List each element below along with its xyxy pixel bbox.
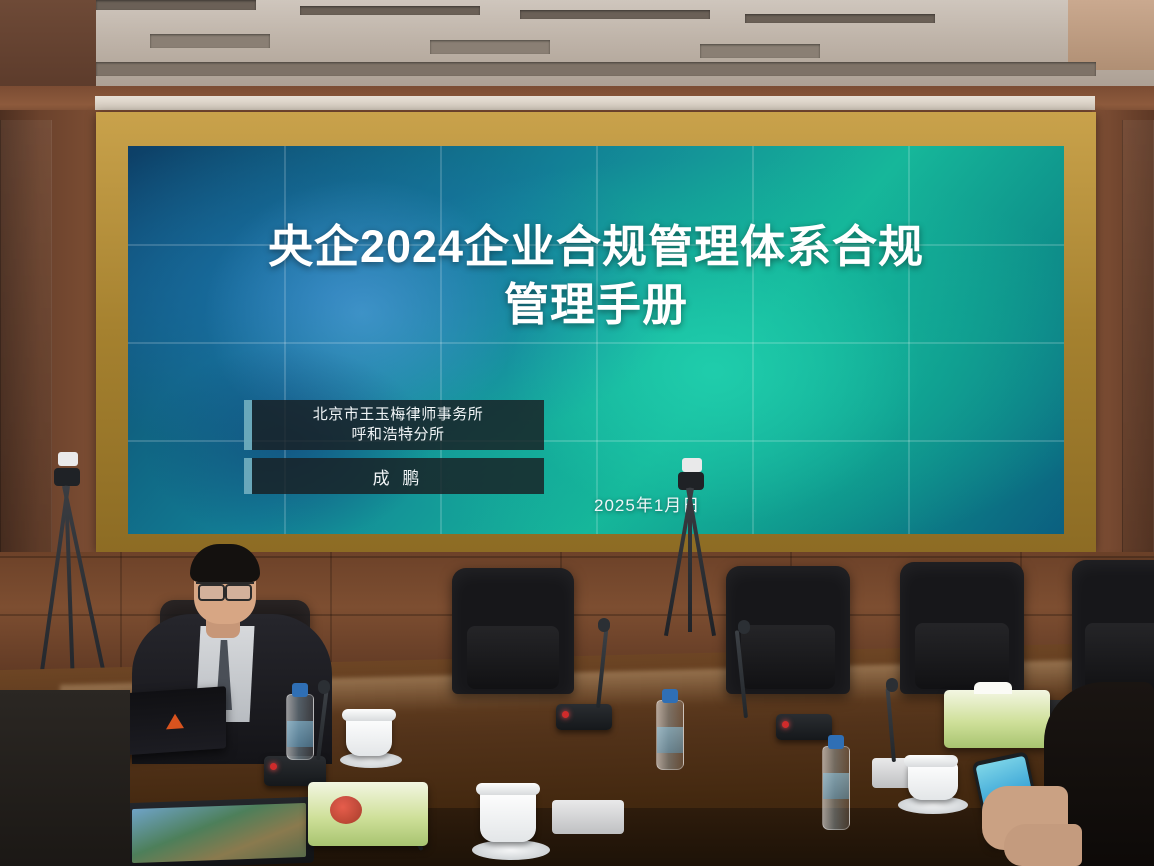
presenter-glasses	[196, 582, 254, 598]
microphone-capsule-2	[598, 618, 610, 632]
tea-cup-3[interactable]	[480, 790, 536, 842]
bottle-label-3	[287, 721, 313, 747]
laptop-logo-icon	[166, 713, 184, 729]
slide-credit-organization: 北京市王玉梅律师事务所 呼和浩特分所	[244, 400, 544, 450]
slide-credit-speaker: 成 鹏	[244, 458, 544, 494]
screen-seam-v5	[908, 146, 910, 534]
ceiling-slot-2	[300, 6, 480, 15]
bottle-cap-3	[292, 683, 308, 697]
microphone-led-3	[782, 721, 789, 728]
bottle-label-5	[823, 773, 849, 799]
executive-chair-4	[1072, 560, 1154, 696]
slide-title-line-1: 央企2024企业合规管理体系合规	[168, 218, 1024, 276]
slide-credit-org-line-1: 北京市王玉梅律师事务所	[252, 405, 544, 425]
ceiling-left-corner	[0, 0, 96, 96]
tea-cup-2[interactable]	[346, 716, 392, 756]
water-bottle-4[interactable]	[656, 700, 684, 770]
laptop-foreground-screen	[132, 803, 306, 863]
screen-seam-v3	[596, 146, 598, 534]
ceiling-right-corner	[1068, 0, 1154, 70]
microphone-led-2	[562, 711, 569, 718]
executive-chair-1	[452, 568, 574, 694]
glasses-lens-right	[225, 584, 252, 601]
microphone-led-1	[270, 763, 277, 770]
laptop-presenter[interactable]	[118, 686, 226, 756]
tea-cup-saucer-3	[472, 840, 550, 860]
conference-room-photo: 央企2024企业合规管理体系合规 管理手册 北京市王玉梅律师事务所 呼和浩特分所…	[0, 0, 1154, 866]
led-video-wall: 央企2024企业合规管理体系合规 管理手册 北京市王玉梅律师事务所 呼和浩特分所…	[128, 146, 1064, 534]
ceiling-vent-2	[430, 40, 550, 54]
microphone-capsule-4	[886, 678, 898, 692]
slide-date: 2025年1月日	[594, 491, 700, 516]
tissue-box-right-sheet	[974, 682, 1012, 694]
tripod-camera-left	[58, 452, 78, 466]
bottle-cap-5	[828, 735, 844, 749]
ceiling-slot-4	[745, 14, 935, 23]
slide-credit-org-line-2: 呼和浩特分所	[252, 425, 544, 445]
attendee-right-hand-lower	[1004, 824, 1082, 866]
microphone-capsule-1	[318, 680, 330, 694]
screen-seam-h2	[128, 342, 1064, 344]
slide-title-line-2: 管理手册	[168, 276, 1024, 334]
tissue-box-right[interactable]	[944, 690, 1050, 748]
slide-title: 央企2024企业合规管理体系合规 管理手册	[128, 218, 1064, 333]
bottle-label-4	[657, 727, 683, 753]
slide-credit-block: 北京市王玉梅律师事务所 呼和浩特分所 成 鹏	[244, 400, 544, 494]
glasses-lens-left	[198, 584, 225, 601]
tissue-box-left[interactable]	[308, 782, 428, 846]
tea-cup-4[interactable]	[908, 762, 958, 800]
microphone-capsule-3	[738, 620, 750, 634]
water-bottle-5[interactable]	[822, 746, 850, 830]
tripod-head-left	[54, 468, 80, 486]
microphone-base-2[interactable]	[556, 704, 612, 730]
executive-chair-3	[900, 562, 1024, 694]
microphone-panel-5[interactable]	[552, 800, 624, 834]
ceiling-vent-3	[700, 44, 820, 58]
tripod-camera-center	[682, 458, 702, 472]
screen-seam-v4	[752, 146, 754, 534]
ceiling-vent-1	[150, 34, 270, 48]
tissue-box-left-emblem	[330, 796, 362, 824]
ceiling-slot-3	[520, 10, 710, 19]
laptop-foreground[interactable]	[124, 797, 314, 866]
microphone-base-3[interactable]	[776, 714, 832, 740]
bottle-cap-4	[662, 689, 678, 703]
ceiling-slot-1	[96, 0, 256, 10]
tripod-leg-center-3	[688, 488, 692, 632]
tea-cup-lid-2	[342, 709, 396, 721]
floor	[0, 690, 130, 866]
wainscot-top-line	[0, 556, 1154, 558]
tea-cup-lid-4	[904, 755, 958, 767]
tea-cup-lid-3	[476, 783, 540, 795]
ceiling-edge-band	[96, 62, 1096, 76]
water-bottle-3[interactable]	[286, 694, 314, 760]
